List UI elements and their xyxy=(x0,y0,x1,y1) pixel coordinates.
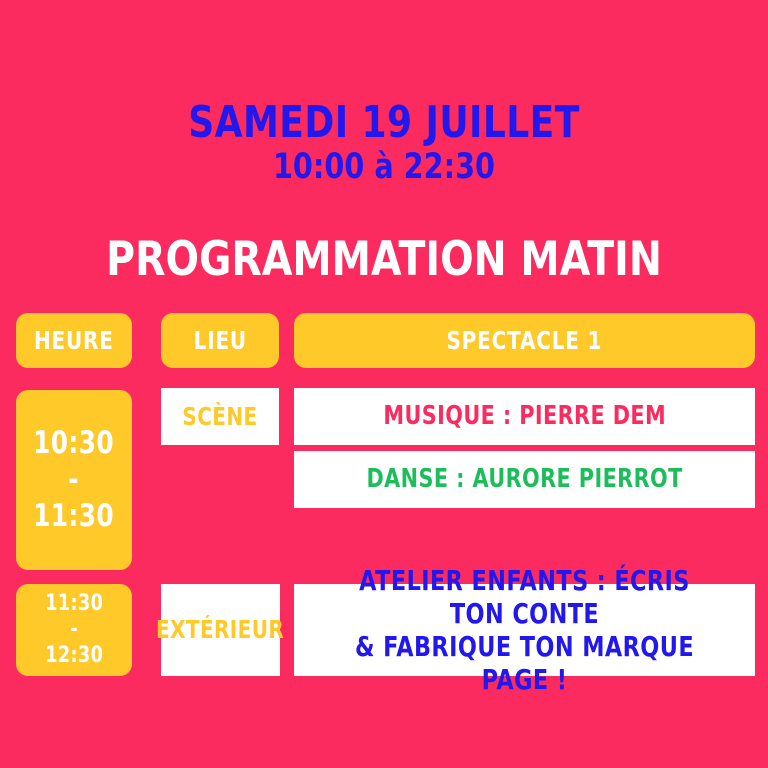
date-time-range: 10:00 à 22:30 xyxy=(69,148,699,186)
event-label: ATELIER ENFANTS : ÉCRIS TON CONTE & FABR… xyxy=(340,564,709,696)
event-cell[interactable]: ATELIER ENFANTS : ÉCRIS TON CONTE & FABR… xyxy=(294,584,755,676)
row-venue-cell: SCÈNE xyxy=(161,388,279,445)
poster-canvas: SAMEDI 19 JUILLET 10:00 à 22:30 PROGRAMM… xyxy=(0,0,768,768)
column-header-label: HEURE xyxy=(34,326,114,356)
event-label: DANSE : AURORE PIERROT xyxy=(366,464,682,495)
column-header-spectacle-1: SPECTACLE 1 xyxy=(294,313,755,368)
page-title: PROGRAMMATION MATIN xyxy=(61,233,706,287)
row-venue-cell: EXTÉRIEUR xyxy=(161,584,280,676)
row-time-cell: 10:30 - 11:30 xyxy=(16,390,132,570)
column-header-lieu: LIEU xyxy=(161,313,279,368)
row-time-label: 11:30 - 12:30 xyxy=(45,591,103,669)
column-header-label: LIEU xyxy=(193,326,246,356)
row-venue-label: SCÈNE xyxy=(182,402,257,432)
event-label: MUSIQUE : PIERRE DEM xyxy=(383,401,666,432)
date-title: SAMEDI 19 JUILLET xyxy=(69,100,699,146)
row-time-label: 10:30 - 11:30 xyxy=(34,425,115,535)
row-venue-label: EXTÉRIEUR xyxy=(156,615,284,645)
event-cell[interactable]: MUSIQUE : PIERRE DEM xyxy=(294,388,755,445)
column-header-label: SPECTACLE 1 xyxy=(447,326,603,356)
row-time-cell: 11:30 - 12:30 xyxy=(16,584,132,676)
poster-header: SAMEDI 19 JUILLET 10:00 à 22:30 xyxy=(0,100,768,186)
column-header-heure: HEURE xyxy=(16,313,132,368)
event-cell[interactable]: DANSE : AURORE PIERROT xyxy=(294,451,755,508)
